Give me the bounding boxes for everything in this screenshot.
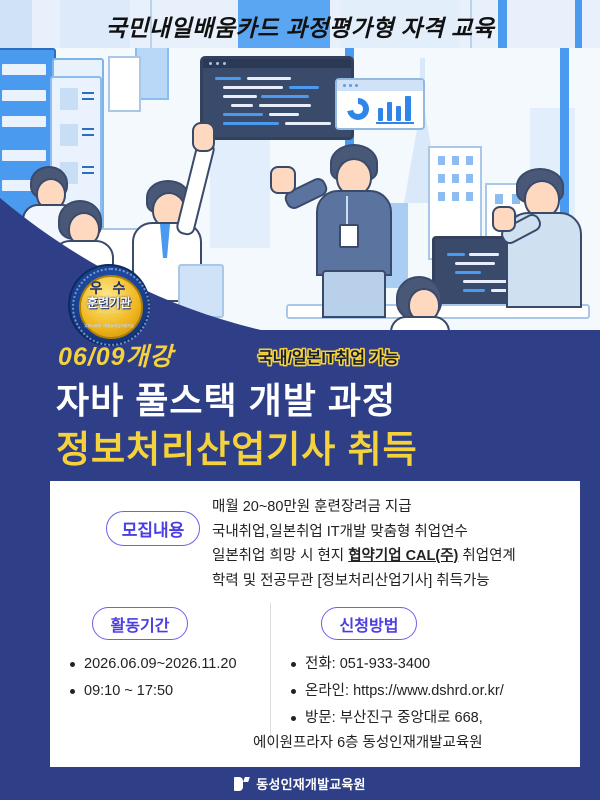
id-badge-icon (339, 224, 359, 248)
info-card: 모집내용 매월 20~80만원 훈련장려금 지급 국내취업,일본취업 IT개발 … (50, 481, 580, 767)
window-shape (438, 156, 445, 165)
badge-issuer: 고용노동부 · 직업능력심사평가원 (68, 324, 150, 329)
poster-root: 국민내일배움카드 과정평가형 자격 교육 (0, 0, 600, 800)
excellent-institution-badge: 우 수 훈련기관 2021.1~12.31 고용노동부 · 직업능력심사평가원 (68, 264, 150, 346)
donut-chart-icon (347, 98, 369, 120)
person-hand (270, 166, 296, 194)
person-legs (322, 270, 386, 318)
code-monitor-icon (200, 56, 354, 140)
window-shape (452, 174, 459, 183)
recruit-line-suffix: 취업연계 (458, 548, 515, 564)
window-shape (452, 156, 459, 165)
course-title-line1: 자바 풀스택 개발 과정 (56, 372, 396, 424)
header-band: 국민내일배움카드 과정평가형 자격 교육 (0, 0, 600, 52)
recruit-line-partner: 일본취업 희망 시 현지 협약기업 CAL(주) 취업연계 (212, 544, 516, 569)
list-item-online[interactable]: 온라인: https://www.dshrd.or.kr/ (305, 678, 580, 705)
recruit-section: 모집내용 매월 20~80만원 훈련장려금 지급 국내취업,일본취업 IT개발 … (50, 481, 580, 596)
window-shape (438, 192, 445, 201)
period-list: 2026.06.09~2026.11.20 09:10 ~ 17:50 (50, 651, 270, 705)
recruit-detail-list: 매월 20~80만원 훈련장려금 지급 국내취업,일본취업 IT개발 맞춤형 취… (212, 495, 516, 593)
recruit-pill-label: 모집내용 (106, 511, 200, 546)
recruit-line: 국내취업,일본취업 IT개발 맞춤형 취업연수 (212, 520, 516, 545)
window-shape (466, 174, 473, 183)
analytics-chart-window (335, 78, 425, 130)
window-shape (452, 192, 459, 201)
lanyard-cord (346, 196, 348, 226)
person-hand-pointing (192, 122, 215, 152)
list-item: 2026.06.09~2026.11.20 (84, 651, 270, 678)
visit-address-line2: 에이원프라자 6층 동성인재개발교육원 (253, 732, 580, 754)
recruit-line: 학력 및 전공무관 [정보처리산업기사] 취득가능 (212, 569, 516, 594)
recruit-line: 매월 20~80만원 훈련장려금 지급 (212, 495, 516, 520)
badge-period: 2021.1~12.31 (68, 309, 150, 314)
footer-band: 동성인재개발교육원 (0, 767, 600, 800)
window-shape (438, 174, 445, 183)
page-title: 국민내일배움카드 과정평가형 자격 교육 (0, 0, 600, 52)
partner-company-name: 협약기업 CAL(주) (348, 548, 458, 564)
period-list-wrap: 2026.06.09~2026.11.20 09:10 ~ 17:50 (50, 651, 270, 705)
apply-pill-label: 신청방법 (321, 607, 417, 640)
list-item: 09:10 ~ 17:50 (84, 678, 270, 705)
dshrd-logo-icon (234, 777, 249, 791)
start-date-kicker: 06/09개강 (58, 337, 174, 373)
recruit-line-prefix: 일본취업 희망 시 현지 (212, 548, 348, 564)
apply-list-wrap: 전화: 051-933-3400 온라인: https://www.dshrd.… (271, 651, 580, 754)
window-shape (466, 192, 473, 201)
course-title-line2: 정보처리산업기사 취득 (56, 419, 418, 473)
footer-org-name: 동성인재개발교육원 (256, 774, 365, 793)
employment-tagline: 국내/일본IT취업 가능 (258, 344, 399, 368)
person-hand-chin (492, 206, 516, 232)
list-item-phone[interactable]: 전화: 051-933-3400 (305, 651, 580, 678)
paper-shape (108, 56, 141, 112)
list-item-visit: 방문: 부산진구 중앙대로 668, (305, 705, 580, 732)
window-shape (466, 156, 473, 165)
window-shape (495, 194, 503, 204)
period-pill-label: 활동기간 (92, 607, 188, 640)
apply-list: 전화: 051-933-3400 온라인: https://www.dshrd.… (271, 651, 580, 732)
